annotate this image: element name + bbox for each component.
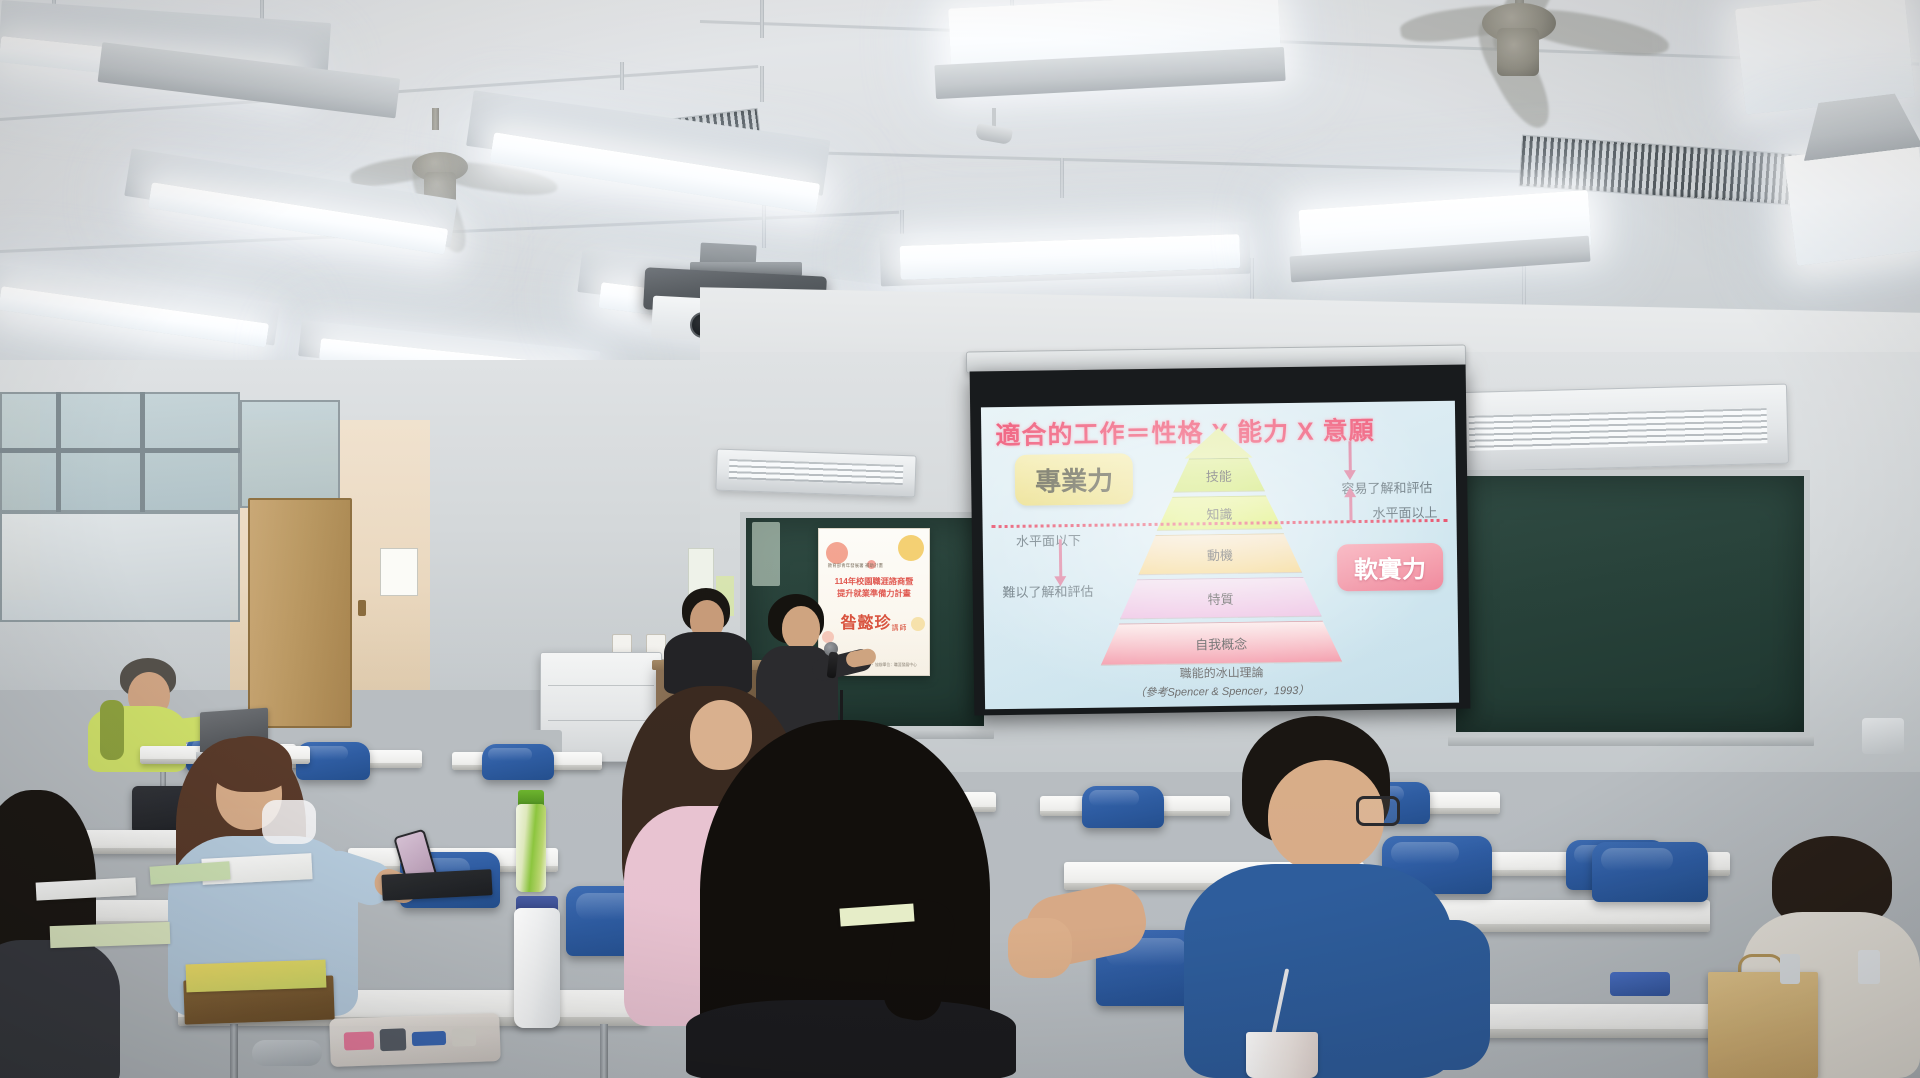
arrow-up-right (1349, 496, 1352, 522)
desk-item-pouch (252, 1040, 322, 1066)
colored-handout (186, 960, 327, 993)
shoulder-strap (100, 700, 124, 760)
pyramid-layer-knowledge: 知識 (1156, 495, 1282, 531)
pyramid-layer-motive: 動機 (1138, 533, 1303, 575)
classroom-photo: 適合的工作＝性格 X 能力 X 意願 專業力 軟實力 技能 知識 動機 特質 自… (0, 0, 1920, 1078)
desk-cup (1858, 950, 1880, 984)
white-tumbler[interactable] (514, 908, 560, 1028)
pyramid-layer-label: 動機 (1207, 544, 1233, 563)
pyramid-source: （參考Spencer & Spencer，1993） (985, 679, 1459, 702)
pyramid-layer-self-concept: 自我概念 (1100, 620, 1343, 665)
pyramid-layer-label: 知識 (1206, 503, 1232, 522)
drink-cup (1246, 1032, 1318, 1078)
poster-title: 114年校園職涯諮商暨 提升就業準備力計畫 (826, 576, 923, 600)
poster-org-line: 教育部青年發展署 補助計畫 (828, 563, 923, 569)
slide-caption: 職能的冰山理論 （參考Spencer & Spencer，1993） (985, 660, 1459, 702)
poster-decor-dot (898, 535, 924, 561)
pyramid-layer-label: 技能 (1206, 465, 1232, 484)
pyramid-title: 職能的冰山理論 (1180, 665, 1264, 680)
projection-screen: 適合的工作＝性格 X 能力 X 意願 專業力 軟實力 技能 知識 動機 特質 自… (981, 401, 1459, 710)
classroom-door[interactable] (248, 498, 352, 728)
window-panel (240, 400, 340, 508)
pyramid-apex (1184, 428, 1252, 459)
wall-air-conditioner (1447, 384, 1789, 473)
eyeglasses (1356, 796, 1400, 826)
pyramid-layer-skill: 技能 (1173, 458, 1265, 493)
competency-iceberg-pyramid: 技能 知識 動機 特質 自我概念 (1114, 427, 1326, 659)
poster-title-line-1: 114年校園職涯諮商暨 (835, 577, 914, 586)
chalk-tray (1448, 736, 1814, 746)
window-transom (0, 448, 240, 453)
poster-speaker: 昝懿珍講師 (819, 609, 929, 633)
note-above-water: 水平面以上 (1372, 502, 1437, 522)
desk-cup (1780, 954, 1800, 984)
pyramid-layer-label: 特質 (1207, 588, 1233, 607)
classroom-chair[interactable] (1082, 786, 1164, 828)
blue-desk-item (1610, 972, 1670, 996)
classroom-chair[interactable] (1592, 842, 1708, 902)
classroom-chair[interactable] (482, 744, 554, 780)
wall-air-duct (715, 449, 916, 498)
chalkboard-note (752, 522, 780, 586)
handout-papers (50, 922, 171, 948)
poster-title-line-2: 提升就業準備力計畫 (837, 589, 911, 598)
door-handle[interactable] (358, 600, 366, 616)
paper-tote-bag (1708, 972, 1818, 1078)
note-hard-assess: 難以了解和評估 (1002, 581, 1093, 601)
face-mask (262, 800, 316, 844)
pencil-case (329, 1013, 501, 1067)
green-tea-bottle (516, 804, 546, 892)
poster-speaker-role: 講師 (892, 625, 908, 632)
student-hand (1008, 918, 1072, 978)
handout-papers (36, 877, 137, 900)
desk-box (1862, 718, 1904, 754)
chalkboard-right (1450, 470, 1810, 738)
pyramid-layer-label: 自我概念 (1195, 633, 1247, 653)
arrow-down-left (1059, 539, 1063, 577)
note-below-water: 水平面以下 (1016, 530, 1081, 550)
door-notice (380, 548, 418, 596)
badge-soft-skill: 軟實力 (1337, 543, 1444, 591)
poster-speaker-name: 昝懿珍 (840, 615, 891, 632)
window-lower-panel (0, 512, 240, 622)
ceiling-light (1784, 140, 1920, 266)
pyramid-layer-trait: 特質 (1119, 577, 1322, 620)
poster-decor-dot (826, 542, 848, 564)
arrow-down-right (1348, 441, 1351, 471)
